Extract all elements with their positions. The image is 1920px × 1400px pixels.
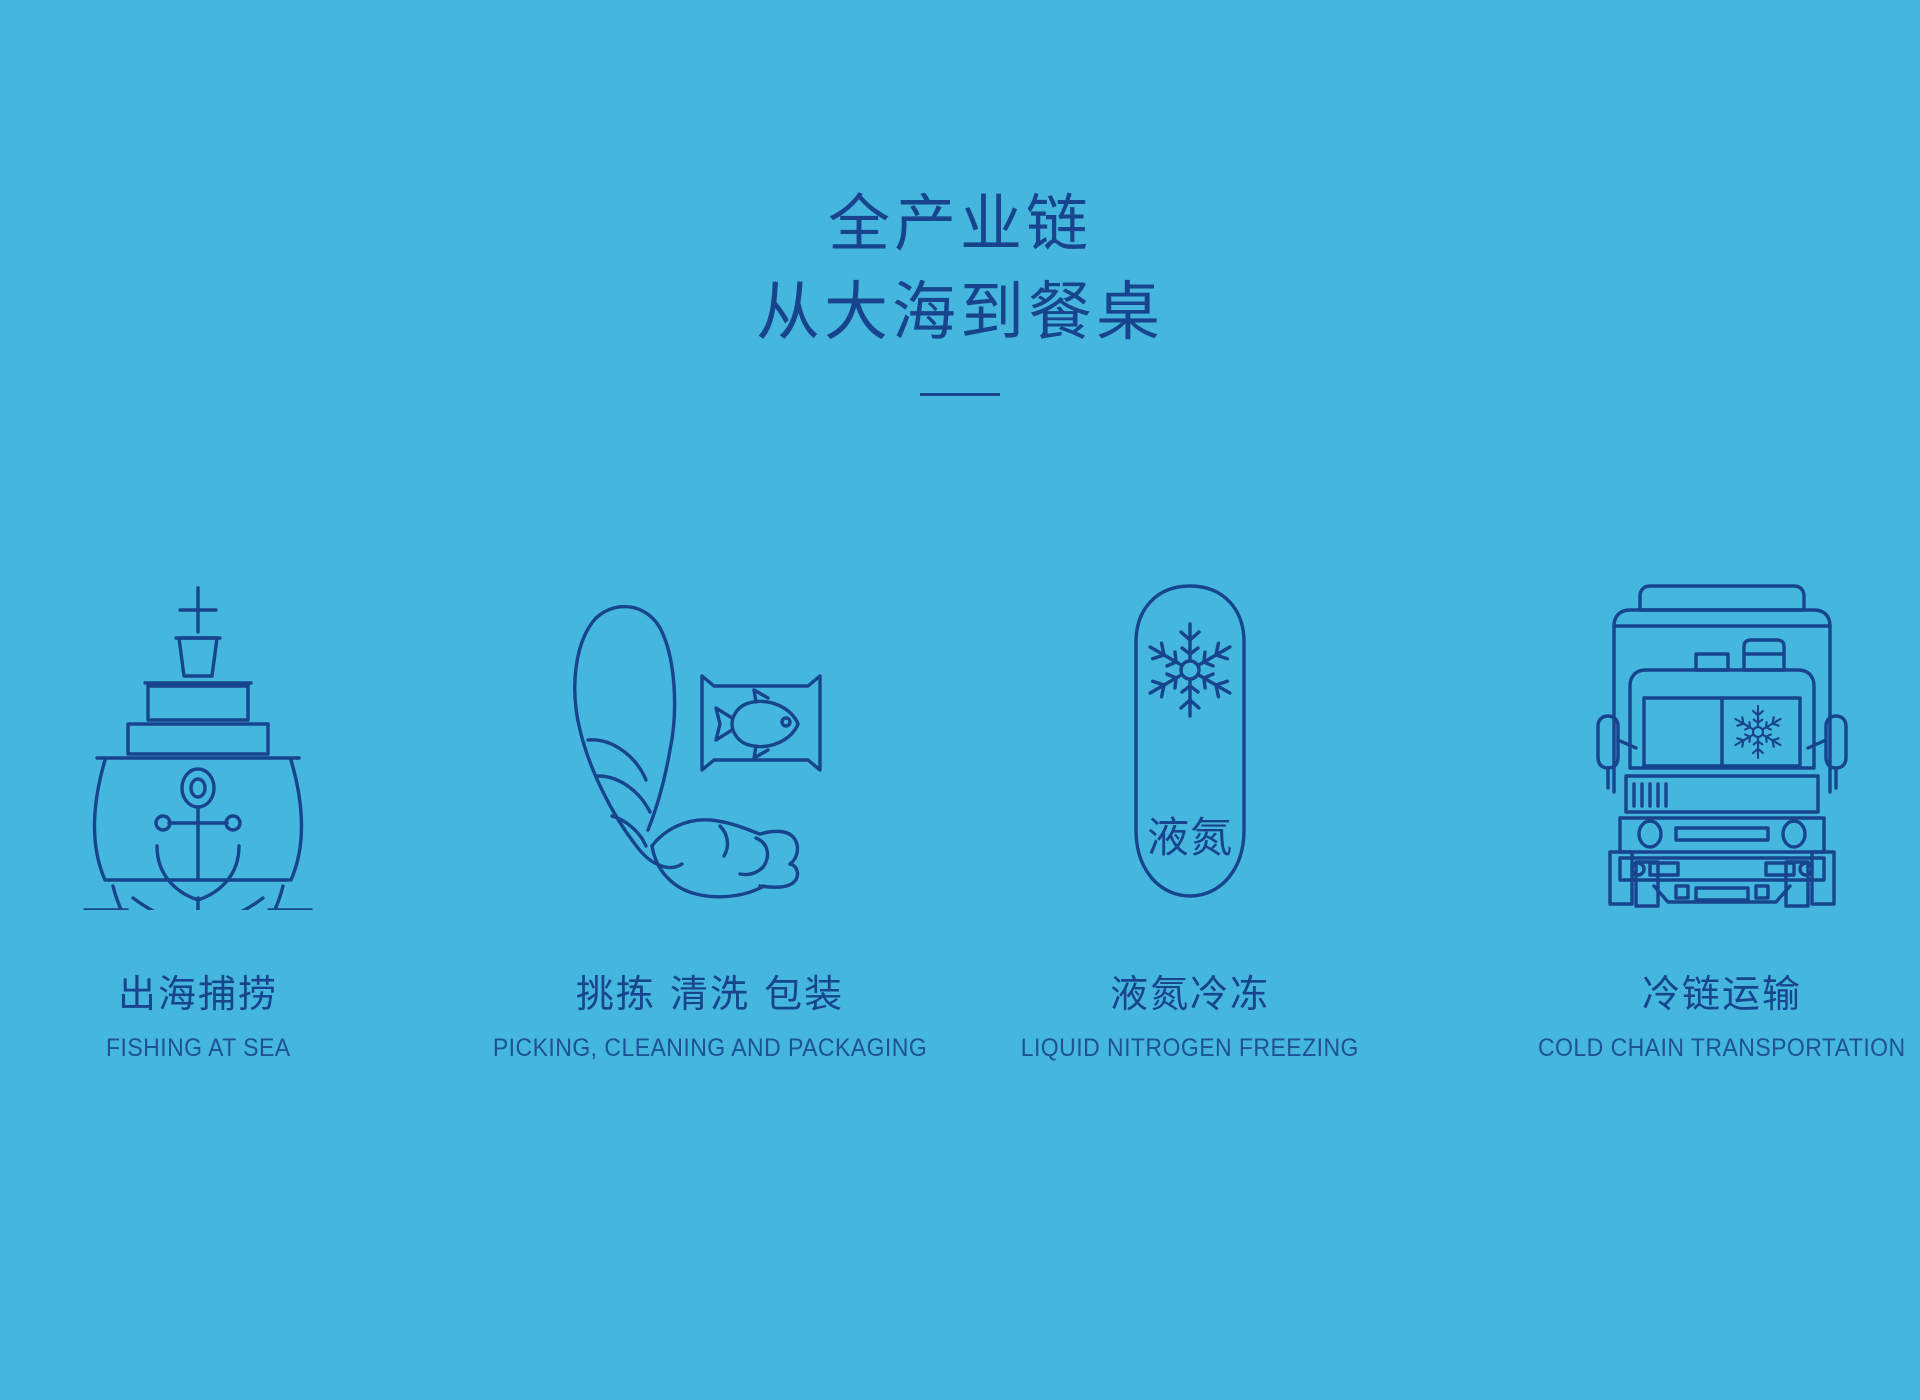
step-label-en: FISHING AT SEA [106,1034,291,1063]
step-label-cn: 液氮冷冻 [1110,972,1270,1018]
step-label-cn: 挑拣 清洗 包装 [576,972,844,1018]
page-title-line-1: 全产业链 [0,180,1920,268]
tank-caption: 液氮 [1147,813,1233,862]
step-liquid-nitrogen-freezing[interactable]: 液氮 液氮冷冻 LIQUID NITROGEN FREEZING [950,520,1430,1063]
step-label-en: COLD CHAIN TRANSPORTATION [1538,1034,1906,1063]
step-picking-cleaning-packaging[interactable]: 挑拣 清洗 包装 PICKING, CLEANING AND PACKAGING [470,520,950,1063]
page-title-line-2: 从大海到餐桌 [0,268,1920,359]
hands-holding-packaged-fish-icon [560,520,860,910]
step-fishing-at-sea[interactable]: 出海捕捞 FISHING AT SEA [0,520,438,1063]
step-label-cn: 冷链运输 [1642,972,1802,1018]
liquid-nitrogen-tank-icon: 液氮 [1120,520,1260,910]
refrigerated-truck-icon [1592,520,1852,910]
title-block: 全产业链 从大海到餐桌 [0,180,1920,396]
fishing-boat-with-anchor-icon [83,520,313,910]
step-label-en: LIQUID NITROGEN FREEZING [1021,1034,1359,1063]
process-steps: 出海捕捞 FISHING AT SEA [0,520,1920,1063]
step-label-en: PICKING, CLEANING AND PACKAGING [493,1034,927,1063]
step-cold-chain-transportation[interactable]: 冷链运输 COLD CHAIN TRANSPORTATION [1482,520,1920,1063]
title-divider [920,393,1000,396]
infographic-page: 全产业链 从大海到餐桌 [0,0,1920,1400]
step-label-cn: 出海捕捞 [118,972,278,1018]
